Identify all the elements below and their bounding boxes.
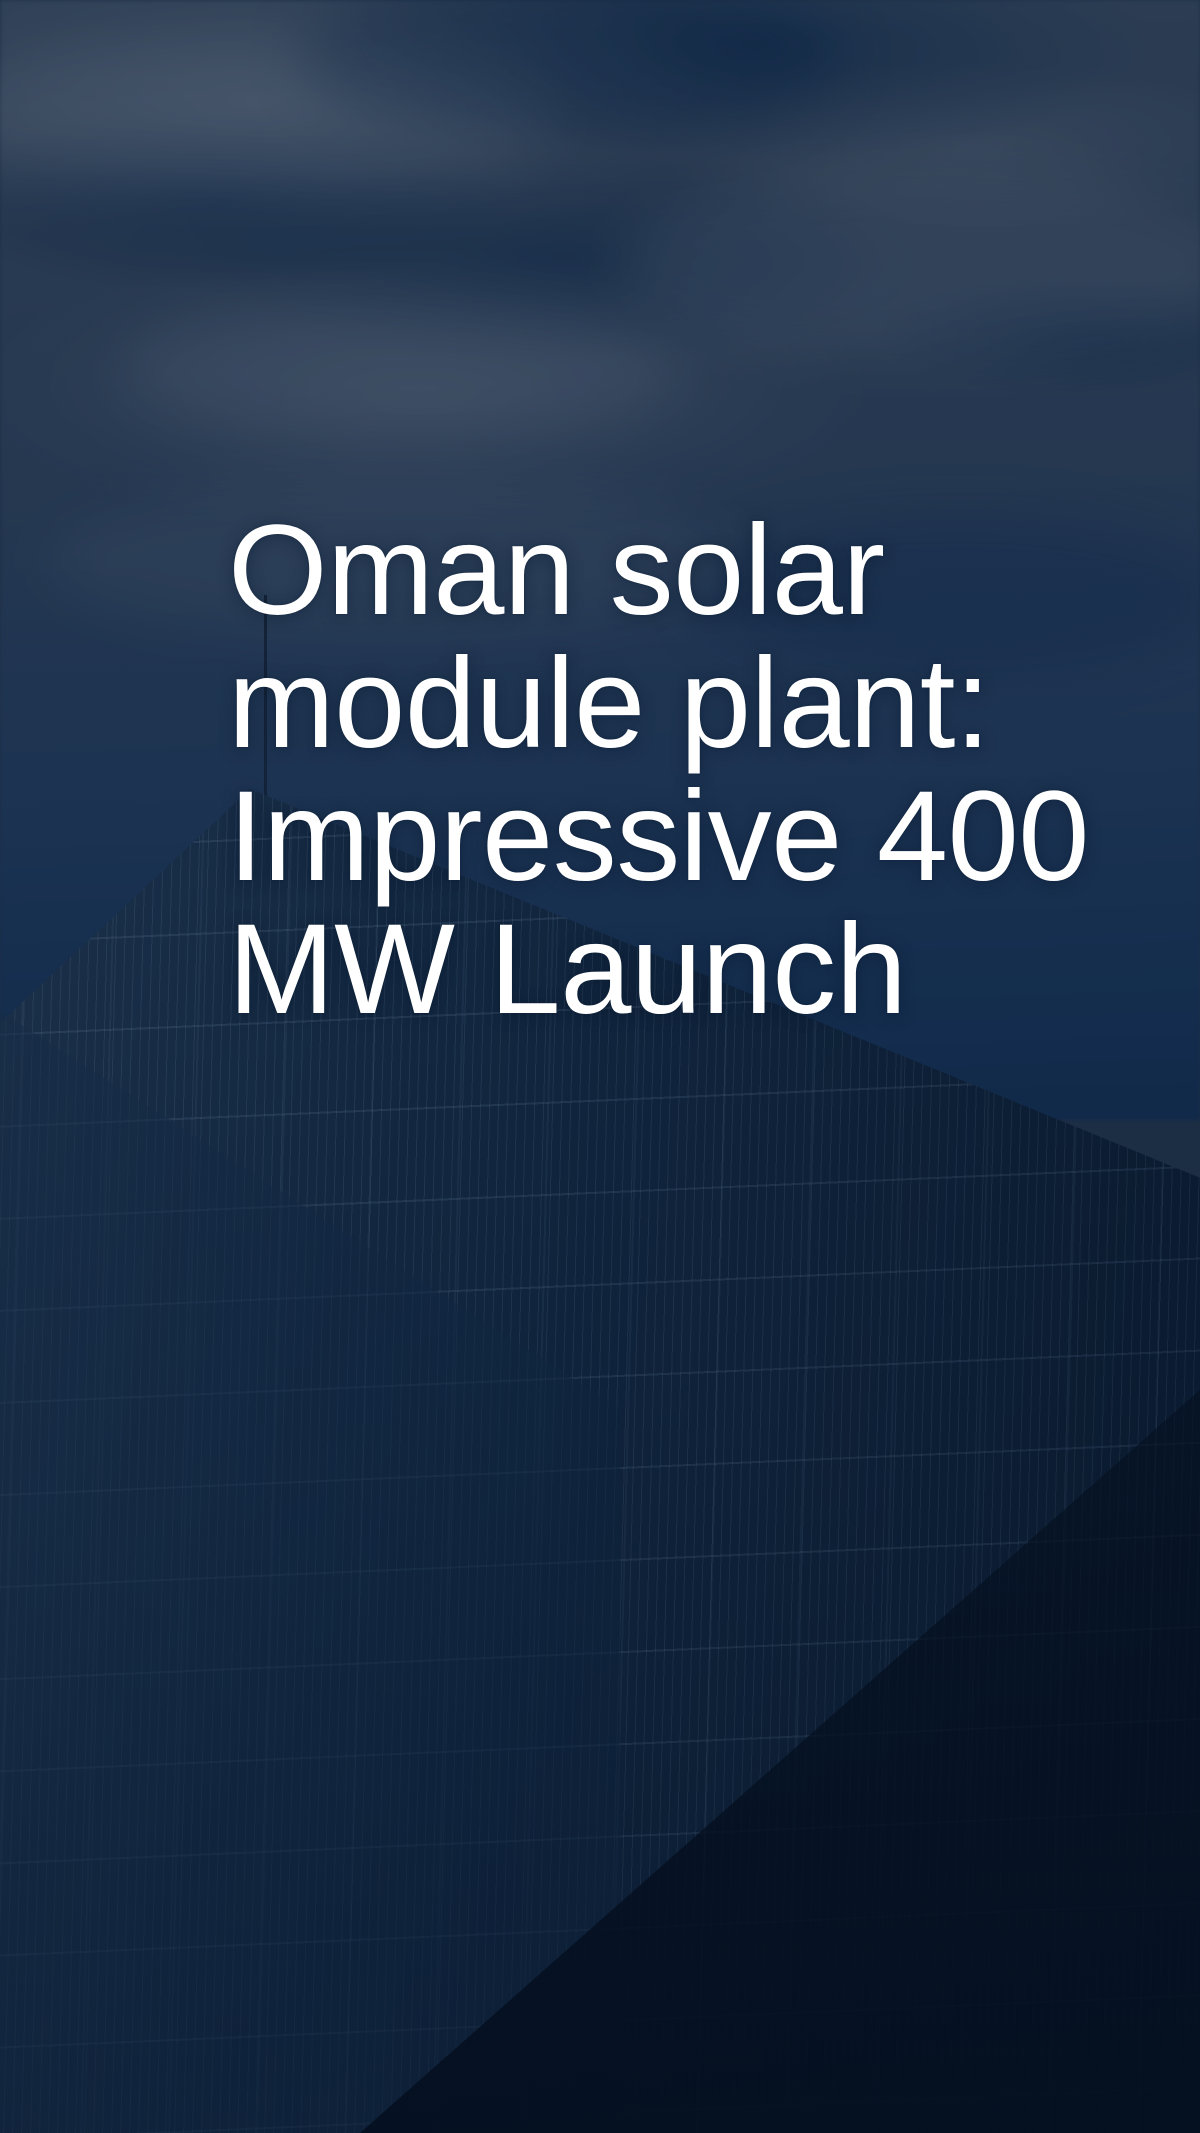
color-overlay-gradient <box>0 0 1200 2133</box>
hero-card: Oman solar module plant: Impressive 400 … <box>0 0 1200 2133</box>
page-title: Oman solar module plant: Impressive 400 … <box>228 504 1098 1036</box>
background-photo <box>0 0 1200 2133</box>
